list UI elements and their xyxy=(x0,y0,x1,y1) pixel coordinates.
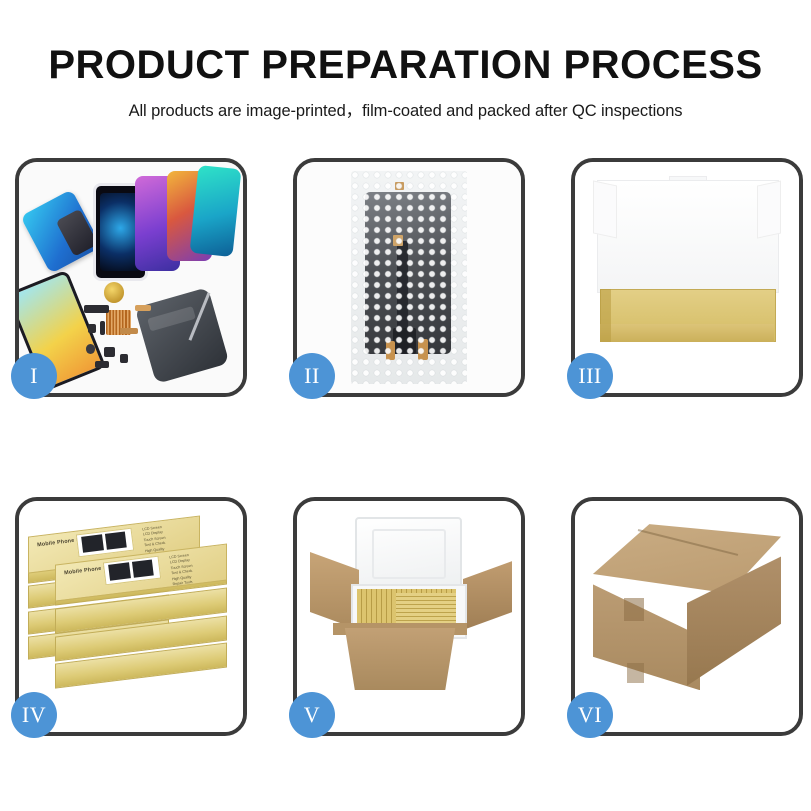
phone-backplate-icon xyxy=(135,287,230,383)
spare-part-icon xyxy=(135,305,151,311)
step-badge-6: VI xyxy=(567,692,613,738)
step-panel-6[interactable]: VI xyxy=(571,497,803,736)
carton-front xyxy=(337,628,462,690)
box-side-shadow xyxy=(600,289,611,342)
phone-teal-icon xyxy=(189,165,240,257)
step-image-sealed-carton xyxy=(575,501,799,732)
spare-part-icon xyxy=(100,321,106,335)
step-panel-2[interactable]: II xyxy=(293,158,525,397)
page-title: PRODUCT PREPARATION PROCESS xyxy=(0,0,811,86)
step-badge-5: V xyxy=(289,692,335,738)
step-image-open-gold-box xyxy=(575,162,799,393)
step-panel-4[interactable]: Mobile Phone Spare Parts LCD Screen LCD … xyxy=(15,497,247,736)
step-badge-1: I xyxy=(11,353,57,399)
spare-part-icon xyxy=(86,344,95,353)
step-image-phone-parts xyxy=(19,162,243,393)
step-panel-3[interactable]: III xyxy=(571,158,803,397)
step-badge-3: III xyxy=(567,353,613,399)
spare-part-icon xyxy=(95,361,108,368)
phone-blue-film-icon xyxy=(21,189,103,273)
spare-part-icon xyxy=(120,328,138,334)
box-lid-flap-right xyxy=(757,180,781,238)
step-image-stacked-boxes: Mobile Phone Spare Parts LCD Screen LCD … xyxy=(19,501,243,732)
page-subtitle: All products are image-printed，film-coat… xyxy=(0,86,811,121)
spare-part-icon xyxy=(84,305,109,312)
box-lid-flap-left xyxy=(593,180,617,238)
step-badge-2: II xyxy=(289,353,335,399)
foam-lid xyxy=(355,517,462,590)
bubble-wrap-texture xyxy=(351,171,467,384)
box-spec-text: LCD Screen LCD Display Touch Screen Test… xyxy=(169,553,195,588)
step-panel-5[interactable]: V xyxy=(293,497,525,736)
header: PRODUCT PREPARATION PROCESS All products… xyxy=(0,0,811,121)
box-front-edge xyxy=(600,324,775,342)
carton-flap-right xyxy=(463,561,512,630)
step-badge-4: IV xyxy=(11,692,57,738)
step-image-carton-with-foam xyxy=(297,501,521,732)
spare-part-icon xyxy=(88,324,96,333)
gold-coil-part-icon xyxy=(104,282,124,303)
step-panel-1[interactable]: I xyxy=(15,158,247,397)
step-image-bubble-wrapped-screen xyxy=(297,162,521,393)
box-lid-inner xyxy=(597,180,778,293)
spare-part-icon xyxy=(120,354,128,363)
process-steps-grid: I II III xyxy=(15,158,796,735)
carton-tape-icon xyxy=(627,663,645,684)
carton-tape-icon xyxy=(624,598,644,621)
spare-part-icon xyxy=(104,347,115,357)
bubble-bag xyxy=(351,171,467,384)
